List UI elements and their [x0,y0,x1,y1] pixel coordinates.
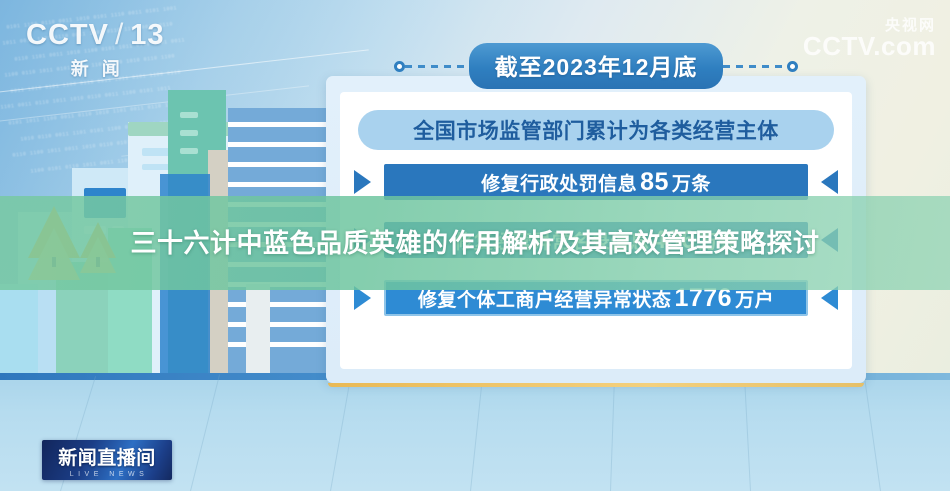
stat-row-bar: 修复行政处罚信息 85 万条 [384,164,808,200]
card-gold-accent [328,383,864,387]
connector-dashes [723,65,787,68]
watermark-en: CCTV.com [803,31,936,62]
perspective-line [863,372,881,491]
connector-dot-icon [787,61,798,72]
overlay-title: 三十六计中蓝色品质英雄的作用解析及其高效管理策略探讨 [0,196,950,290]
perspective-line [330,373,352,491]
channel-subtitle: 新闻 [26,55,165,81]
connector-dot-icon [394,61,405,72]
window [180,130,198,136]
connector-left [326,61,469,71]
date-badge-row: 截至2023年12月底 [326,48,866,84]
cctv13-logo: CCTV / 13 新闻 [26,18,165,81]
building [0,284,38,380]
stat-unit: 万条 [672,169,711,196]
program-lower-third: 新闻直播间 LIVE NEWS [42,440,172,480]
date-badge: 截至2023年12月底 [469,43,724,89]
stat-row: 修复行政处罚信息 85 万条 [346,164,846,200]
arrow-left-icon [821,170,838,194]
window [180,148,198,154]
perspective-line [744,371,751,491]
logo-slash-icon: / [115,18,124,52]
connector-right [723,61,866,71]
broadcast-screenshot: 0101 1100 0110 0011 1010 0101 1110 0011 … [0,0,950,491]
channel-number: 13 [130,19,164,52]
program-name-en: LIVE NEWS [66,471,149,478]
perspective-line [470,372,484,491]
cctv-com-watermark: 央视网 CCTV.com [803,14,936,62]
window [180,112,198,118]
building [246,284,270,380]
stat-label: 修复行政处罚信息 [481,169,637,196]
cctv13-logo-line: CCTV / 13 [26,18,165,52]
perspective-line [610,371,615,491]
program-name-cn: 新闻直播间 [58,443,156,470]
connector-dashes [405,65,469,68]
infographic-headline: 全国市场监管部门累计为各类经营主体 [358,110,834,150]
perspective-line [190,374,220,491]
arrow-right-icon [354,170,371,194]
cctv-wordmark: CCTV [26,19,109,52]
stat-number: 85 [637,168,672,197]
